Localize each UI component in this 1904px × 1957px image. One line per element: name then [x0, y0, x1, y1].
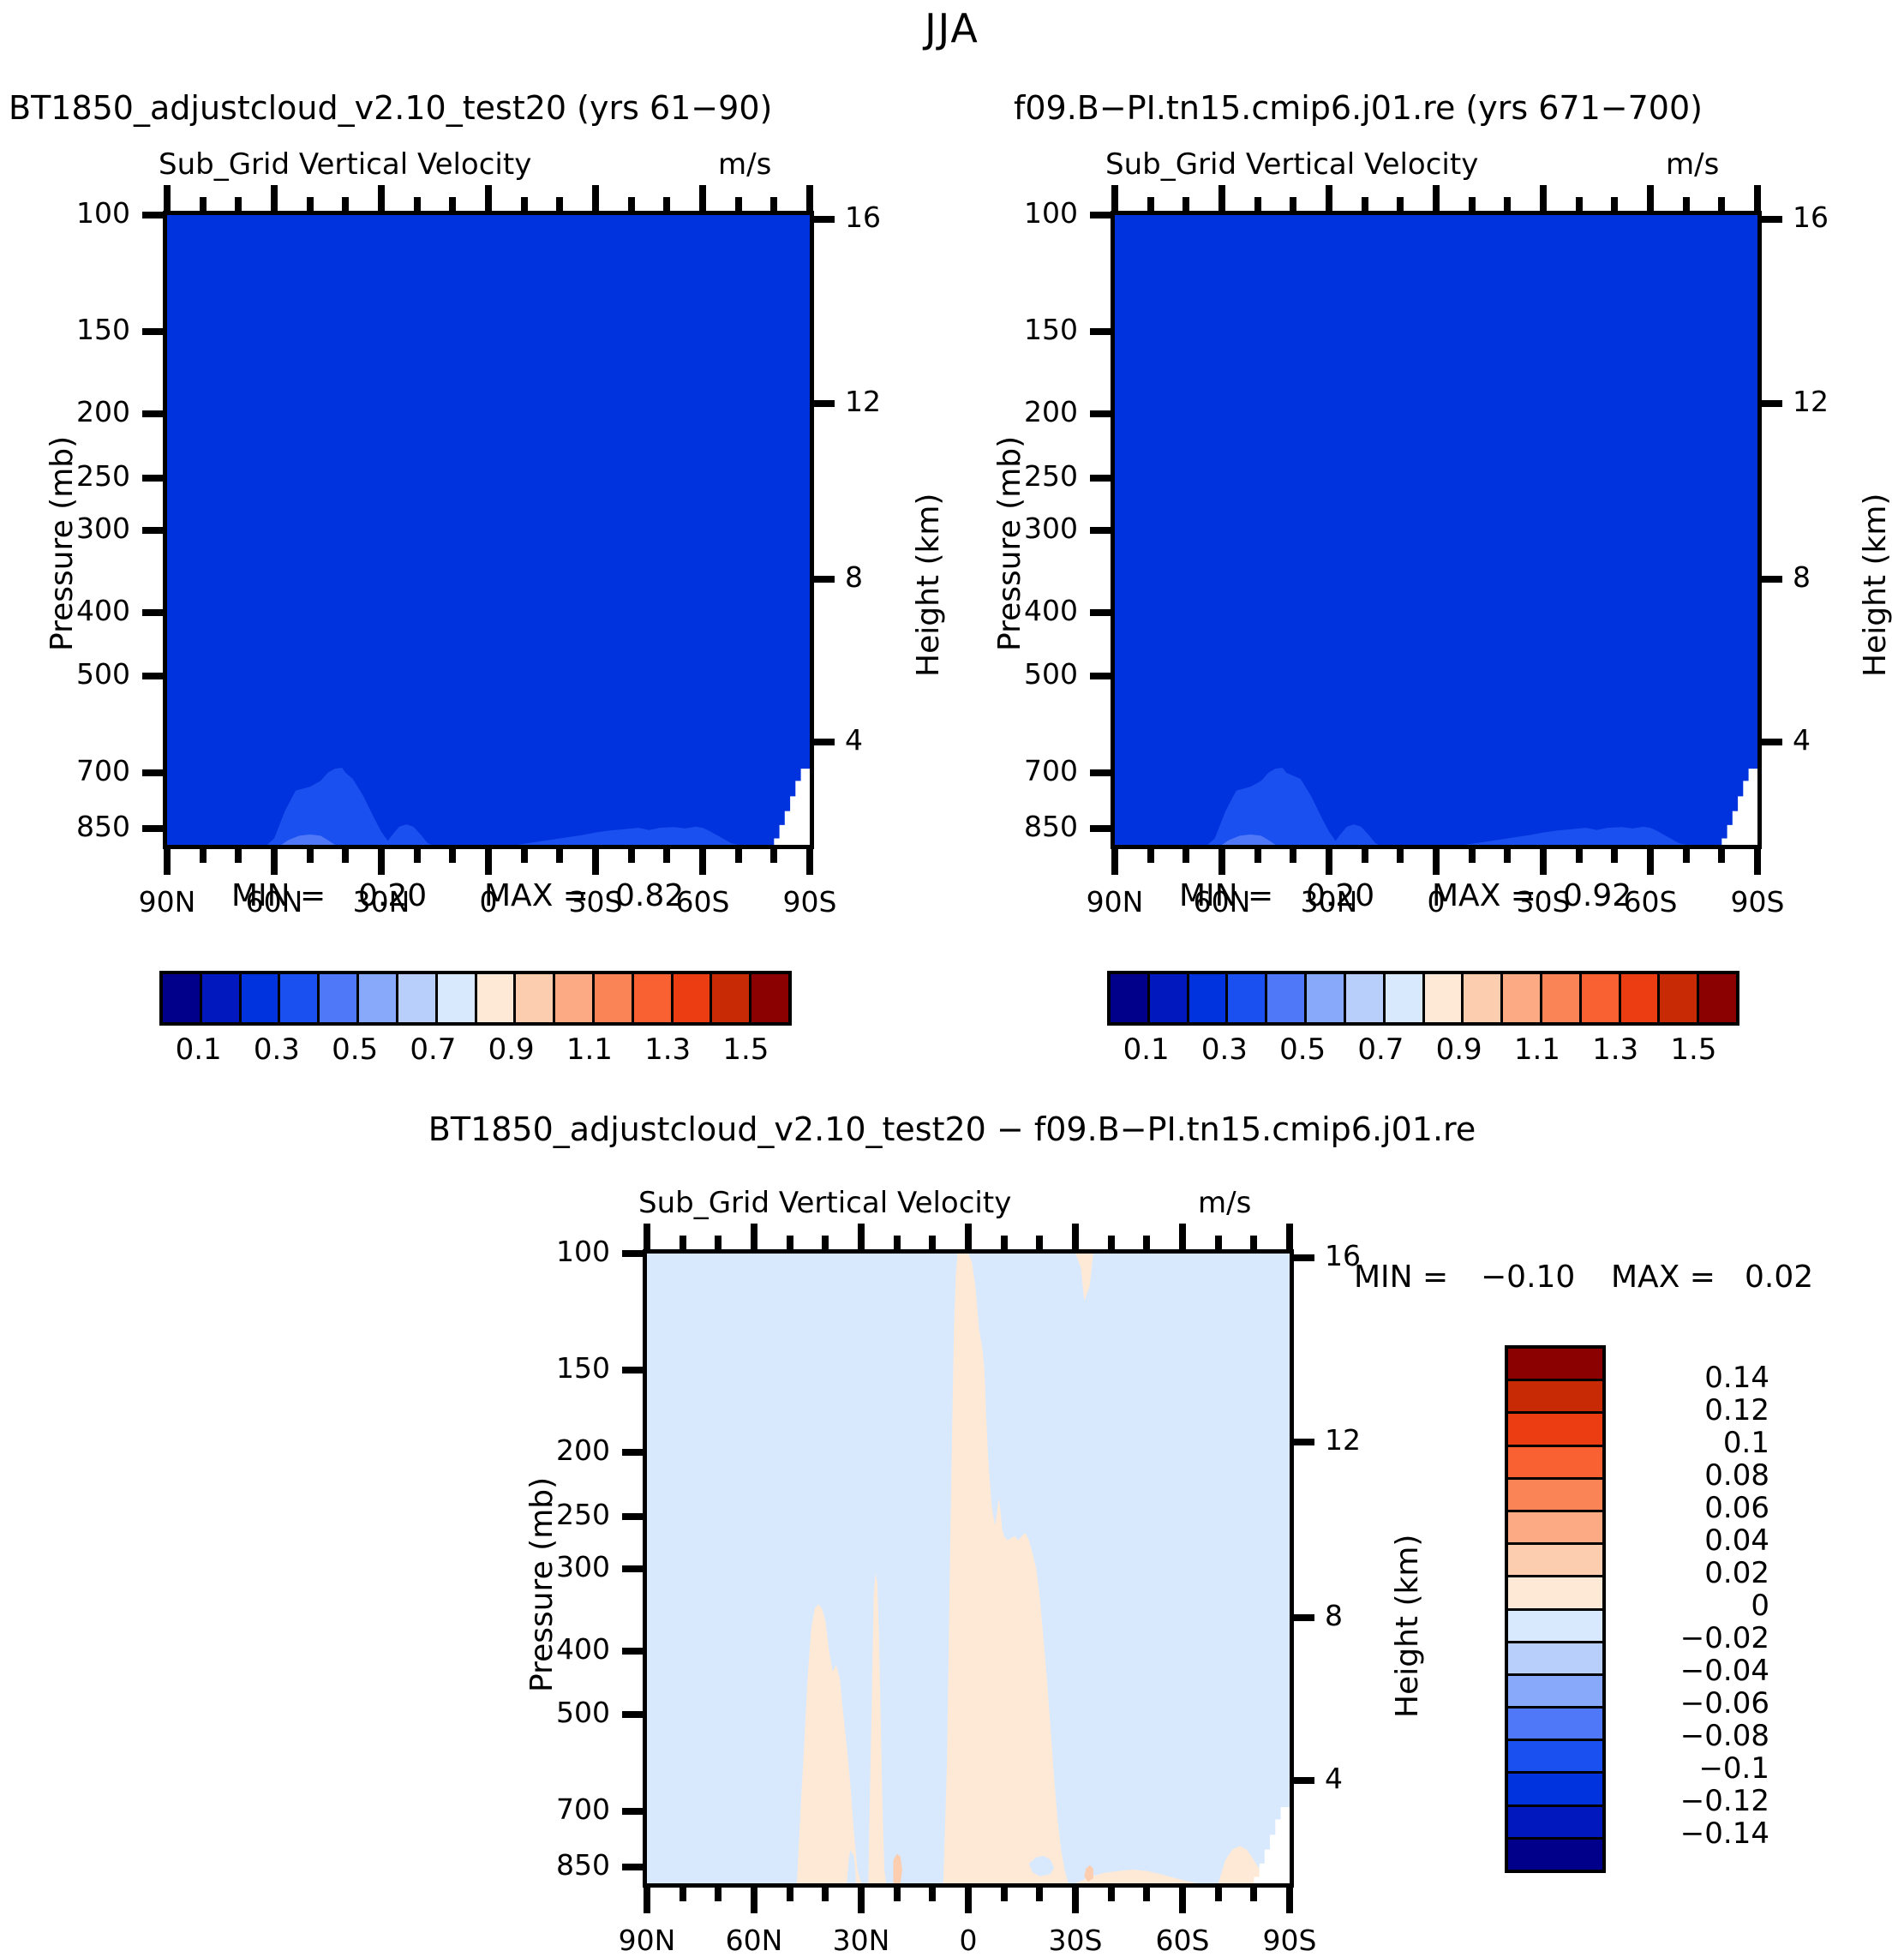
- pressure-tick-label: 700: [34, 754, 130, 787]
- pressure-tick: [622, 1808, 644, 1815]
- lat-tick-minor: [1504, 849, 1511, 863]
- lat-tick-top-major: [1111, 185, 1118, 211]
- pressure-tick: [142, 769, 165, 776]
- lat-tick-top-major: [751, 1224, 757, 1249]
- lat-tick-minor: [1183, 849, 1189, 863]
- lat-tick-major: [378, 849, 385, 875]
- lat-tick-label: 60N: [686, 1924, 823, 1957]
- colorbar-tick-label: 1.1: [1514, 1032, 1560, 1067]
- pressure-tick: [1090, 527, 1112, 534]
- lat-tick-top-minor: [628, 197, 635, 211]
- colorbar-swatch[interactable]: [516, 974, 555, 1022]
- diff-min-label: MIN =: [1354, 1260, 1448, 1295]
- pressure-tick: [142, 212, 165, 218]
- lat-tick-top-minor: [1504, 197, 1511, 211]
- colorbar-swatch[interactable]: [1386, 974, 1425, 1022]
- pressure-tick: [1090, 328, 1112, 335]
- lat-tick-top-minor: [680, 1236, 686, 1249]
- colorbar-swatch[interactable]: [1150, 974, 1189, 1022]
- height-tick: [812, 400, 835, 407]
- colorbar-tick-label: −0.04: [1620, 1654, 1769, 1688]
- lat-tick-top-major: [378, 185, 385, 211]
- height-tick: [1760, 739, 1782, 745]
- colorbar-tick-label: 0.08: [1620, 1458, 1769, 1493]
- pressure-tick-label: 200: [982, 395, 1078, 428]
- lat-tick-top-minor: [1108, 1236, 1115, 1249]
- colorbar-swatch[interactable]: [1508, 1774, 1602, 1806]
- lat-tick-top-minor: [929, 1236, 936, 1249]
- pressure-tick-label: 500: [514, 1696, 610, 1729]
- pressure-tick-label: 850: [514, 1848, 610, 1882]
- colorbar-swatch[interactable]: [1228, 974, 1267, 1022]
- colorbar-tick-label: 0.7: [410, 1032, 456, 1067]
- left-height-axis-label: Height (km): [911, 494, 946, 677]
- right-colorbar-labels: 0.10.30.50.70.91.11.31.5: [1107, 1032, 1733, 1075]
- lat-tick-minor: [715, 1888, 721, 1901]
- colorbar-swatch[interactable]: [477, 974, 517, 1022]
- right-pressure-axis-label: Pressure (mb): [992, 436, 1027, 651]
- colorbar-tick-label: 1.3: [644, 1032, 691, 1067]
- lat-tick-minor: [1001, 1888, 1008, 1901]
- lat-tick-major: [806, 849, 813, 875]
- contour-background: [167, 215, 810, 845]
- lat-tick-top-minor: [1215, 1236, 1222, 1249]
- pressure-tick-label: 100: [34, 196, 130, 230]
- diff-units: m/s: [1198, 1186, 1251, 1220]
- colorbar-swatch[interactable]: [359, 974, 398, 1022]
- height-tick-label: 8: [1793, 560, 1811, 594]
- height-tick-label: 12: [845, 385, 881, 418]
- height-tick-label: 16: [845, 200, 881, 234]
- colorbar-swatch[interactable]: [1307, 974, 1346, 1022]
- lat-tick-top-minor: [735, 197, 742, 211]
- colorbar-swatch[interactable]: [1508, 1480, 1602, 1512]
- colorbar-tick-label: 1.5: [722, 1032, 769, 1067]
- height-tick-label: 12: [1793, 385, 1829, 418]
- lat-tick-top-minor: [1250, 1236, 1257, 1249]
- colorbar-swatch[interactable]: [163, 974, 202, 1022]
- pressure-tick: [1090, 609, 1112, 616]
- lat-tick-top-major: [1754, 185, 1761, 211]
- colorbar-swatch[interactable]: [202, 974, 242, 1022]
- pressure-tick: [142, 527, 165, 534]
- lat-tick-major: [1179, 1888, 1186, 1913]
- right-variable-name: Sub_Grid Vertical Velocity: [1105, 147, 1478, 182]
- colorbar-swatch[interactable]: [1508, 1807, 1602, 1840]
- height-tick-label: 8: [1325, 1599, 1343, 1632]
- pressure-tick: [622, 1250, 644, 1257]
- lat-tick-top-minor: [1683, 197, 1690, 211]
- lat-tick-major: [1326, 849, 1332, 875]
- height-tick: [1760, 400, 1782, 407]
- lat-tick-minor: [929, 1888, 936, 1901]
- pressure-tick-label: 700: [982, 754, 1078, 787]
- right-min-label: MIN =: [1179, 878, 1273, 913]
- left-variable-name: Sub_Grid Vertical Velocity: [159, 147, 531, 182]
- lat-tick-top-major: [271, 185, 278, 211]
- pressure-tick-label: 200: [34, 395, 130, 428]
- colorbar-tick-label: 0.1: [1620, 1426, 1769, 1460]
- colorbar-tick-label: −0.1: [1620, 1751, 1769, 1786]
- lat-tick-top-minor: [1576, 197, 1583, 211]
- pressure-tick-label: 150: [34, 313, 130, 346]
- colorbar-swatch[interactable]: [1660, 974, 1699, 1022]
- lat-tick-minor: [235, 849, 242, 863]
- height-tick: [1292, 1614, 1314, 1621]
- pressure-tick-label: 100: [982, 196, 1078, 230]
- diff-max-value: 0.02: [1745, 1260, 1813, 1295]
- colorbar-swatch[interactable]: [1503, 974, 1542, 1022]
- lat-tick-label: 90N: [99, 885, 236, 919]
- pressure-tick: [1090, 475, 1112, 482]
- season-title: JJA: [0, 5, 1904, 51]
- pressure-tick: [622, 1648, 644, 1655]
- colorbar-tick-label: 0.9: [488, 1032, 535, 1067]
- lat-tick-minor: [894, 1888, 901, 1901]
- lat-tick-top-major: [644, 1224, 650, 1249]
- colorbar-swatch[interactable]: [242, 974, 281, 1022]
- lat-tick-minor: [1143, 1888, 1150, 1901]
- diff-panel-title: BT1850_adjustcloud_v2.10_test20 − f09.B−…: [0, 1110, 1904, 1148]
- lat-tick-minor: [307, 849, 314, 863]
- pressure-tick: [142, 825, 165, 832]
- height-tick: [1292, 1777, 1314, 1784]
- right-max-value: 0.92: [1563, 878, 1632, 913]
- lat-tick-top-minor: [1254, 197, 1261, 211]
- pressure-tick: [622, 1864, 644, 1870]
- colorbar-tick-label: 0.02: [1620, 1556, 1769, 1590]
- colorbar-swatch[interactable]: [1508, 1512, 1602, 1545]
- left-panel-title: BT1850_adjustcloud_v2.10_test20 (yrs 61−…: [9, 89, 772, 127]
- height-tick: [1292, 1254, 1314, 1261]
- lat-tick-top-minor: [1290, 197, 1296, 211]
- pressure-tick: [622, 1449, 644, 1456]
- lat-tick-top-minor: [556, 197, 563, 211]
- lat-tick-top-major: [164, 185, 171, 211]
- lat-tick-top-major: [699, 185, 706, 211]
- lat-tick-minor: [1215, 1888, 1222, 1901]
- pressure-tick-label: 500: [982, 657, 1078, 691]
- lat-tick-minor: [787, 1888, 793, 1901]
- right-plot-area: [1111, 211, 1762, 849]
- lat-tick-minor: [449, 849, 456, 863]
- lat-tick-minor: [521, 849, 528, 863]
- lat-tick-minor: [1397, 849, 1404, 863]
- left-pressure-axis-label: Pressure (mb): [45, 436, 80, 651]
- lat-tick-top-minor: [1143, 1236, 1150, 1249]
- lat-tick-major: [965, 1888, 972, 1913]
- lat-tick-major: [858, 1888, 865, 1913]
- lat-tick-minor: [200, 849, 207, 863]
- pressure-tick: [142, 475, 165, 482]
- pressure-tick-label: 500: [34, 657, 130, 691]
- lat-tick-major: [1754, 849, 1761, 875]
- lat-tick-top-major: [1433, 185, 1440, 211]
- lat-tick-major: [164, 849, 171, 875]
- lat-tick-top-minor: [1362, 197, 1368, 211]
- colorbar-tick-label: 0.06: [1620, 1491, 1769, 1525]
- lat-tick-label: 90S: [1689, 885, 1826, 919]
- colorbar-swatch[interactable]: [674, 974, 713, 1022]
- pressure-tick-label: 150: [514, 1351, 610, 1385]
- colorbar-tick-label: 0.12: [1620, 1393, 1769, 1427]
- colorbar-swatch[interactable]: [712, 974, 751, 1022]
- lat-tick-top-major: [806, 185, 813, 211]
- colorbar-swatch[interactable]: [1346, 974, 1386, 1022]
- lat-tick-top-minor: [521, 197, 528, 211]
- diff-variable-name: Sub_Grid Vertical Velocity: [638, 1186, 1011, 1220]
- lat-tick-top-minor: [342, 197, 349, 211]
- lat-tick-top-major: [1179, 1224, 1186, 1249]
- lat-tick-minor: [1147, 849, 1154, 863]
- colorbar-swatch[interactable]: [1425, 974, 1464, 1022]
- lat-tick-top-minor: [1036, 1236, 1043, 1249]
- lat-tick-top-minor: [1183, 197, 1189, 211]
- right-height-axis-label: Height (km): [1858, 494, 1893, 677]
- diff-colorbar-labels: 0.140.120.10.080.060.040.020−0.02−0.04−0…: [1620, 1345, 1791, 1866]
- lat-tick-minor: [663, 849, 670, 863]
- pressure-tick: [1090, 673, 1112, 679]
- colorbar-swatch[interactable]: [555, 974, 595, 1022]
- lat-tick-minor: [1718, 849, 1725, 863]
- lat-tick-top-minor: [715, 1236, 721, 1249]
- colorbar-swatch[interactable]: [1189, 974, 1229, 1022]
- lat-tick-label: 0: [900, 1924, 1037, 1957]
- colorbar-swatch[interactable]: [1508, 1676, 1602, 1709]
- lat-tick-top-minor: [307, 197, 314, 211]
- colorbar-swatch[interactable]: [1508, 1577, 1602, 1610]
- colorbar-swatch[interactable]: [1508, 1447, 1602, 1480]
- colorbar-swatch[interactable]: [1508, 1545, 1602, 1577]
- right-colorbar[interactable]: [1107, 971, 1739, 1026]
- diff-pressure-axis-label: Pressure (mb): [524, 1477, 560, 1692]
- colorbar-tick-label: 0.5: [1279, 1032, 1326, 1067]
- left-units: m/s: [718, 147, 771, 182]
- colorbar-tick-label: 1.1: [566, 1032, 613, 1067]
- pressure-tick: [142, 410, 165, 417]
- lat-tick-major: [1433, 849, 1440, 875]
- lat-tick-top-minor: [663, 197, 670, 211]
- colorbar-tick-label: 1.5: [1670, 1032, 1716, 1067]
- pressure-tick-label: 200: [514, 1433, 610, 1467]
- pressure-tick: [1090, 769, 1112, 776]
- lat-tick-top-minor: [1469, 197, 1476, 211]
- lat-tick-label: 30S: [1007, 1924, 1144, 1957]
- colorbar-tick-label: −0.06: [1620, 1686, 1769, 1721]
- colorbar-swatch[interactable]: [1542, 974, 1582, 1022]
- lat-tick-minor: [556, 849, 563, 863]
- pressure-tick: [1090, 825, 1112, 832]
- diff-max-label: MAX =: [1611, 1260, 1715, 1295]
- pressure-tick: [142, 328, 165, 335]
- lat-tick-top-major: [485, 185, 492, 211]
- lat-tick-major: [1647, 849, 1654, 875]
- height-tick: [1760, 216, 1782, 223]
- lat-tick-top-minor: [200, 197, 207, 211]
- lat-tick-label: 90S: [741, 885, 878, 919]
- lat-tick-top-minor: [235, 197, 242, 211]
- colorbar-tick-label: 0.1: [176, 1032, 222, 1067]
- lat-tick-minor: [342, 849, 349, 863]
- pressure-tick: [622, 1711, 644, 1718]
- colorbar-swatch[interactable]: [1508, 1611, 1602, 1643]
- pressure-tick: [622, 1565, 644, 1572]
- lat-tick-top-minor: [1718, 197, 1725, 211]
- height-tick-label: 12: [1325, 1423, 1361, 1457]
- pressure-tick: [1090, 212, 1112, 218]
- colorbar-swatch[interactable]: [320, 974, 359, 1022]
- colorbar-swatch[interactable]: [398, 974, 438, 1022]
- lat-tick-label: 90N: [578, 1924, 715, 1957]
- colorbar-tick-label: 0: [1620, 1589, 1769, 1623]
- lat-tick-top-minor: [1611, 197, 1618, 211]
- colorbar-tick-label: −0.14: [1620, 1816, 1769, 1851]
- lat-tick-top-major: [1326, 185, 1332, 211]
- lat-tick-major: [1540, 849, 1547, 875]
- lat-tick-label: 60S: [1114, 1924, 1251, 1957]
- lat-tick-minor: [735, 849, 742, 863]
- colorbar-swatch[interactable]: [1508, 1840, 1602, 1870]
- height-tick: [1760, 576, 1782, 583]
- colorbar-tick-label: 0.7: [1357, 1032, 1404, 1067]
- lat-tick-minor: [1362, 849, 1368, 863]
- height-tick-label: 16: [1793, 200, 1829, 234]
- lat-tick-minor: [1469, 849, 1476, 863]
- colorbar-swatch[interactable]: [634, 974, 674, 1022]
- lat-tick-top-minor: [770, 197, 777, 211]
- lat-tick-major: [1111, 849, 1118, 875]
- colorbar-swatch[interactable]: [751, 974, 788, 1022]
- lat-tick-minor: [1036, 1888, 1043, 1901]
- pressure-tick-label: 850: [982, 810, 1078, 843]
- colorbar-swatch[interactable]: [595, 974, 634, 1022]
- colorbar-tick-label: 0.04: [1620, 1523, 1769, 1558]
- lat-tick-minor: [628, 849, 635, 863]
- colorbar-swatch[interactable]: [1508, 1741, 1602, 1774]
- left-max-label: MAX =: [484, 878, 589, 913]
- lat-tick-top-major: [965, 1224, 972, 1249]
- lat-tick-top-minor: [894, 1236, 901, 1249]
- lat-tick-top-minor: [787, 1236, 793, 1249]
- diff-height-axis-label: Height (km): [1390, 1535, 1425, 1718]
- lat-tick-major: [1218, 849, 1225, 875]
- lat-tick-label: 30N: [793, 1924, 930, 1957]
- lat-tick-minor: [770, 849, 777, 863]
- colorbar-tick-label: 0.3: [254, 1032, 300, 1067]
- colorbar-tick-label: 0.5: [332, 1032, 378, 1067]
- right-max-label: MAX =: [1432, 878, 1536, 913]
- lat-tick-label: 90N: [1046, 885, 1183, 919]
- lat-tick-major: [271, 849, 278, 875]
- right-panel-title: f09.B−PI.tn15.cmip6.j01.re (yrs 671−700): [1014, 89, 1703, 127]
- pressure-tick: [622, 1367, 644, 1373]
- colorbar-swatch[interactable]: [1111, 974, 1150, 1022]
- lat-tick-top-minor: [1397, 197, 1404, 211]
- colorbar-swatch[interactable]: [1267, 974, 1307, 1022]
- colorbar-tick-label: 0.3: [1201, 1032, 1248, 1067]
- colorbar-swatch[interactable]: [1508, 1414, 1602, 1446]
- lat-tick-major: [485, 849, 492, 875]
- height-tick: [812, 216, 835, 223]
- pressure-tick: [142, 673, 165, 679]
- colorbar-swatch[interactable]: [1621, 974, 1661, 1022]
- lat-tick-top-minor: [414, 197, 421, 211]
- lat-tick-major: [699, 849, 706, 875]
- lat-tick-top-major: [1072, 1224, 1079, 1249]
- pressure-tick-label: 850: [34, 810, 130, 843]
- pressure-tick: [622, 1513, 644, 1520]
- lat-tick-major: [1072, 1888, 1079, 1913]
- lat-tick-minor: [1683, 849, 1690, 863]
- colorbar-swatch[interactable]: [1508, 1381, 1602, 1414]
- lat-tick-minor: [1108, 1888, 1115, 1901]
- left-min-label: MIN =: [231, 878, 326, 913]
- lat-tick-top-major: [1540, 185, 1547, 211]
- lat-tick-top-major: [858, 1224, 865, 1249]
- lat-tick-minor: [822, 1888, 829, 1901]
- lat-tick-label: 90S: [1221, 1924, 1358, 1957]
- contour-background: [1115, 215, 1757, 845]
- colorbar-tick-label: 0.9: [1436, 1032, 1482, 1067]
- pressure-tick-label: 700: [514, 1792, 610, 1826]
- lat-tick-minor: [414, 849, 421, 863]
- colorbar-swatch[interactable]: [438, 974, 477, 1022]
- right-units: m/s: [1666, 147, 1719, 182]
- lat-tick-minor: [1250, 1888, 1257, 1901]
- left-plot-area: [163, 211, 814, 849]
- diff-colorbar[interactable]: [1505, 1345, 1606, 1873]
- colorbar-tick-label: −0.08: [1620, 1719, 1769, 1753]
- height-tick: [1292, 1439, 1314, 1445]
- height-tick-label: 4: [845, 723, 863, 757]
- lat-tick-minor: [1290, 849, 1296, 863]
- height-tick-label: 8: [845, 560, 863, 594]
- lat-tick-top-major: [1647, 185, 1654, 211]
- pressure-tick: [142, 609, 165, 616]
- colorbar-swatch[interactable]: [1508, 1643, 1602, 1676]
- colorbar-tick-label: 0.14: [1620, 1361, 1769, 1395]
- colorbar-swatch[interactable]: [1582, 974, 1621, 1022]
- colorbar-swatch[interactable]: [1508, 1709, 1602, 1741]
- pressure-tick-label: 100: [514, 1235, 610, 1268]
- colorbar-swatch[interactable]: [1464, 974, 1503, 1022]
- colorbar-swatch[interactable]: [280, 974, 320, 1022]
- lat-tick-minor: [1576, 849, 1583, 863]
- right-min-value: 0.20: [1306, 878, 1374, 913]
- left-colorbar[interactable]: [159, 971, 792, 1026]
- lat-tick-top-major: [1286, 1224, 1293, 1249]
- lat-tick-minor: [1611, 849, 1618, 863]
- lat-tick-top-major: [592, 185, 599, 211]
- height-tick: [812, 576, 835, 583]
- height-tick: [812, 739, 835, 745]
- left-min-value: 0.20: [358, 878, 427, 913]
- colorbar-swatch[interactable]: [1699, 974, 1736, 1022]
- lat-tick-minor: [1254, 849, 1261, 863]
- lat-tick-major: [751, 1888, 757, 1913]
- lat-tick-top-minor: [1147, 197, 1154, 211]
- colorbar-tick-label: −0.02: [1620, 1621, 1769, 1655]
- colorbar-tick-label: 1.3: [1592, 1032, 1638, 1067]
- left-colorbar-labels: 0.10.30.50.70.91.11.31.5: [159, 1032, 785, 1075]
- lat-tick-top-minor: [822, 1236, 829, 1249]
- lat-tick-top-major: [1218, 185, 1225, 211]
- lat-tick-major: [644, 1888, 650, 1913]
- lat-tick-top-minor: [1001, 1236, 1008, 1249]
- colorbar-swatch[interactable]: [1508, 1349, 1602, 1381]
- pressure-tick: [1090, 410, 1112, 417]
- pressure-tick-label: 150: [982, 313, 1078, 346]
